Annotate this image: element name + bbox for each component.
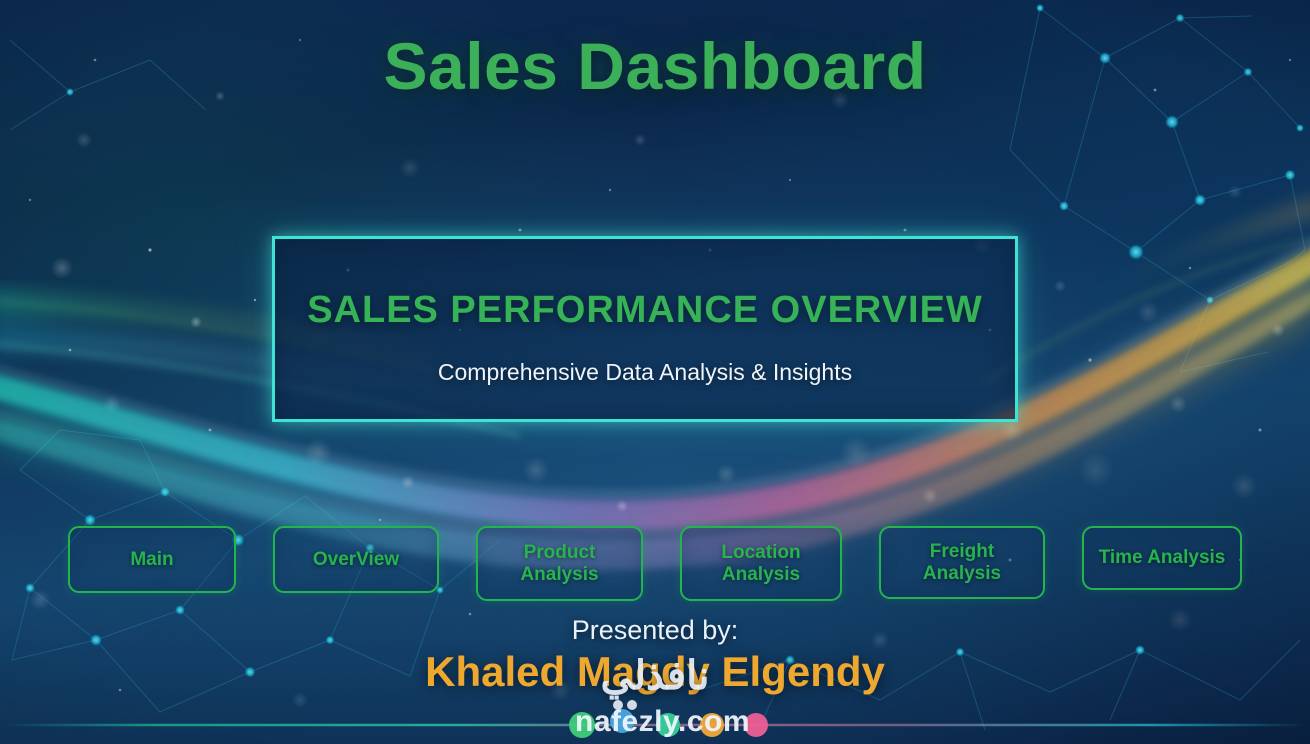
hero-subtitle: Comprehensive Data Analysis & Insights: [275, 359, 1015, 386]
hero-panel: SALES PERFORMANCE OVERVIEW Comprehensive…: [272, 236, 1018, 422]
watermark-domain-text: nafezly.com: [575, 707, 750, 737]
nav-button-time-analysis[interactable]: Time Analysis: [1082, 526, 1242, 590]
navigation-button-row: Main OverView ProductAnalysis LocationAn…: [0, 526, 1310, 602]
nav-button-product-analysis[interactable]: ProductAnalysis: [476, 526, 643, 601]
hero-title: SALES PERFORMANCE OVERVIEW: [275, 289, 1015, 332]
nav-button-main[interactable]: Main: [68, 526, 236, 593]
presented-by-label: Presented by:: [0, 615, 1310, 646]
presenter-name: Khaled Magdy Elgendy: [0, 648, 1310, 696]
slide-canvas: Sales Dashboard SALES PERFORMANCE OVERVI…: [0, 0, 1310, 744]
watermark-dots-icon: [560, 701, 810, 743]
nav-button-location-analysis[interactable]: LocationAnalysis: [680, 526, 842, 601]
nav-button-freight-analysis[interactable]: FreightAnalysis: [879, 526, 1045, 599]
nav-button-overview[interactable]: OverView: [273, 526, 439, 593]
watermark-logo-row: nafezly.com: [560, 701, 750, 743]
bottom-accent-line: [0, 724, 1310, 726]
page-title: Sales Dashboard: [0, 28, 1310, 104]
